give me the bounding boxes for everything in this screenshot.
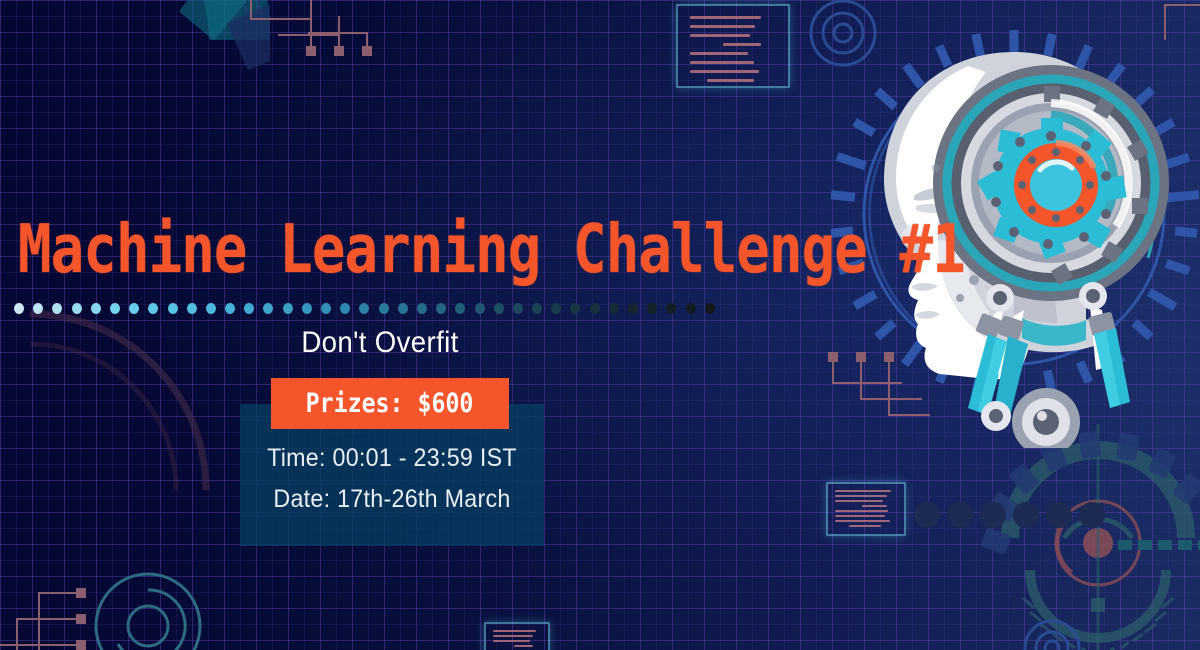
bar-strip [1118, 540, 1200, 550]
divider-dot [283, 303, 293, 314]
divider-dot [436, 303, 446, 314]
dot-row [914, 502, 1105, 528]
divider-dot [148, 303, 158, 314]
divider-dot [72, 303, 82, 314]
divider-dot [532, 303, 542, 314]
divider-dot [91, 303, 101, 314]
divider-dot [513, 303, 523, 314]
divider-dot [647, 303, 657, 314]
time-line: Time: 00:01 - 23:59 IST [251, 444, 534, 473]
divider-dot [225, 303, 235, 314]
divider-dot [206, 303, 216, 314]
divider-dot [340, 303, 350, 314]
ml-challenge-banner: Machine Learning Challenge #1 Don't Over… [0, 0, 1200, 650]
prize-badge: Prizes: $600 [271, 378, 509, 429]
target-icon [968, 420, 1200, 650]
divider-dots [14, 303, 715, 314]
document-icon [484, 622, 550, 650]
circuit-trace-icon [222, 0, 382, 50]
divider-dot [628, 303, 638, 314]
divider-dot [475, 303, 485, 314]
divider-dot [110, 303, 120, 314]
date-line: Date: 17th-26th March [251, 485, 534, 514]
divider-dot [666, 303, 676, 314]
divider-dot [551, 303, 561, 314]
divider-dot [379, 303, 389, 314]
divider-dot [455, 303, 465, 314]
divider-dot [52, 303, 62, 314]
divider-dot [168, 303, 178, 314]
divider-dot [359, 303, 369, 314]
divider-dot [398, 303, 408, 314]
divider-dot [302, 303, 312, 314]
circuit-trace-icon [16, 588, 196, 650]
divider-dot [417, 303, 427, 314]
divider-dot [14, 303, 24, 314]
divider-dot [705, 303, 715, 314]
divider-dot [244, 303, 254, 314]
divider-dot [321, 303, 331, 314]
document-icon [826, 482, 906, 536]
divider-dot [609, 303, 619, 314]
divider-dot [33, 303, 43, 314]
divider-dot [570, 303, 580, 314]
prize-label: Prizes: $600 [306, 388, 474, 419]
divider-dot [494, 303, 504, 314]
divider-dot [187, 303, 197, 314]
divider-dot [129, 303, 139, 314]
divider-dot [590, 303, 600, 314]
document-icon [676, 4, 790, 88]
divider-dot [263, 303, 273, 314]
divider-dot [686, 303, 696, 314]
spiral-icon [1016, 612, 1088, 650]
subtitle: Don't Overfit [30, 326, 729, 360]
page-title: Machine Learning Challenge #1 [18, 216, 965, 283]
